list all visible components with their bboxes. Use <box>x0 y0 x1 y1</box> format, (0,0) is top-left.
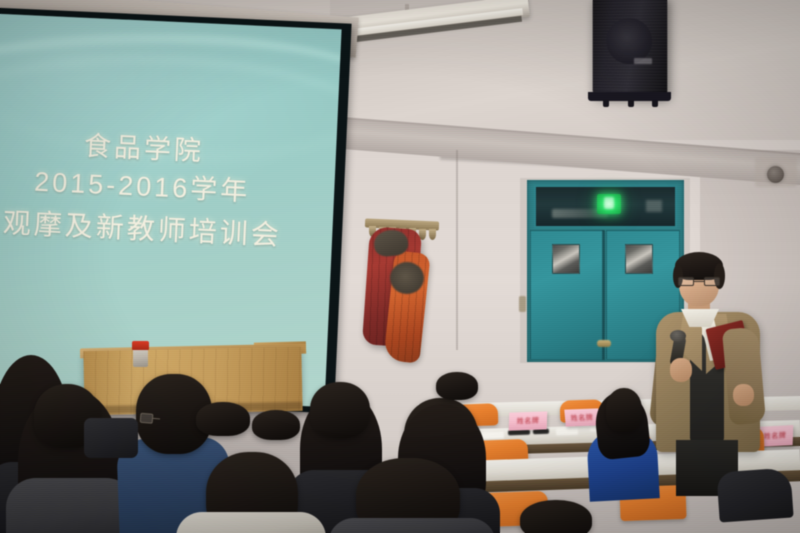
door-handle[interactable] <box>597 340 611 347</box>
presenter-left-hand <box>670 358 692 382</box>
audience-head-center-bun <box>310 382 370 438</box>
glasses-lens-left <box>678 277 694 286</box>
coat-hook-7 <box>429 229 436 240</box>
presenter-microphone-head <box>670 330 686 342</box>
coat-fur-trim <box>390 262 424 294</box>
name-card-1: 姓名牌 <box>509 411 548 430</box>
name-card-2: 姓名牌 <box>564 408 599 426</box>
glasses-bridge <box>694 281 704 282</box>
lecture-hall-photo: 食品学院 2015-2016学年 教学观摩及新教师培训会 <box>0 0 800 533</box>
draped-coat-right <box>716 467 793 522</box>
ceiling-speaker <box>593 0 668 97</box>
audience-head-bg-3 <box>436 372 478 400</box>
audience-head-bg-2 <box>252 410 300 440</box>
speaker-foot-left <box>603 100 609 107</box>
audience-head-front-right <box>520 500 592 533</box>
speaker-foot-mid <box>628 100 634 107</box>
red-thermos-cap <box>132 341 149 350</box>
audience-body-front-left <box>176 512 326 533</box>
black-bag <box>84 418 138 458</box>
door-window-left <box>552 244 580 274</box>
speaker-foot-right <box>652 100 658 107</box>
presenter-right-hand <box>733 384 754 406</box>
transom-light-reflection-2 <box>646 200 662 212</box>
wall-switch-plate[interactable] <box>519 296 526 312</box>
audience-body-left-front <box>6 478 136 533</box>
smoke-detector-icon <box>767 166 784 183</box>
audience-head-bg-1 <box>196 402 250 436</box>
audience-head-blue <box>606 388 642 432</box>
wall-seam <box>456 150 458 350</box>
presenter-speaking <box>648 250 768 490</box>
glasses-lens-right <box>704 277 720 286</box>
audience-glasses-bridge <box>153 418 160 420</box>
paper-sheet-2 <box>556 428 578 436</box>
slide-title-line-1: 食品学院 <box>83 130 204 169</box>
audience-body-front-center <box>328 518 496 533</box>
name-card-1-label: 姓名牌 <box>509 411 548 430</box>
speaker-logo <box>634 58 652 64</box>
audience-glasses-lens-left <box>140 413 154 424</box>
exit-sign-icon <box>597 194 621 214</box>
name-card-2-label: 姓名牌 <box>564 408 599 426</box>
presenter-glasses-icon <box>678 277 720 286</box>
